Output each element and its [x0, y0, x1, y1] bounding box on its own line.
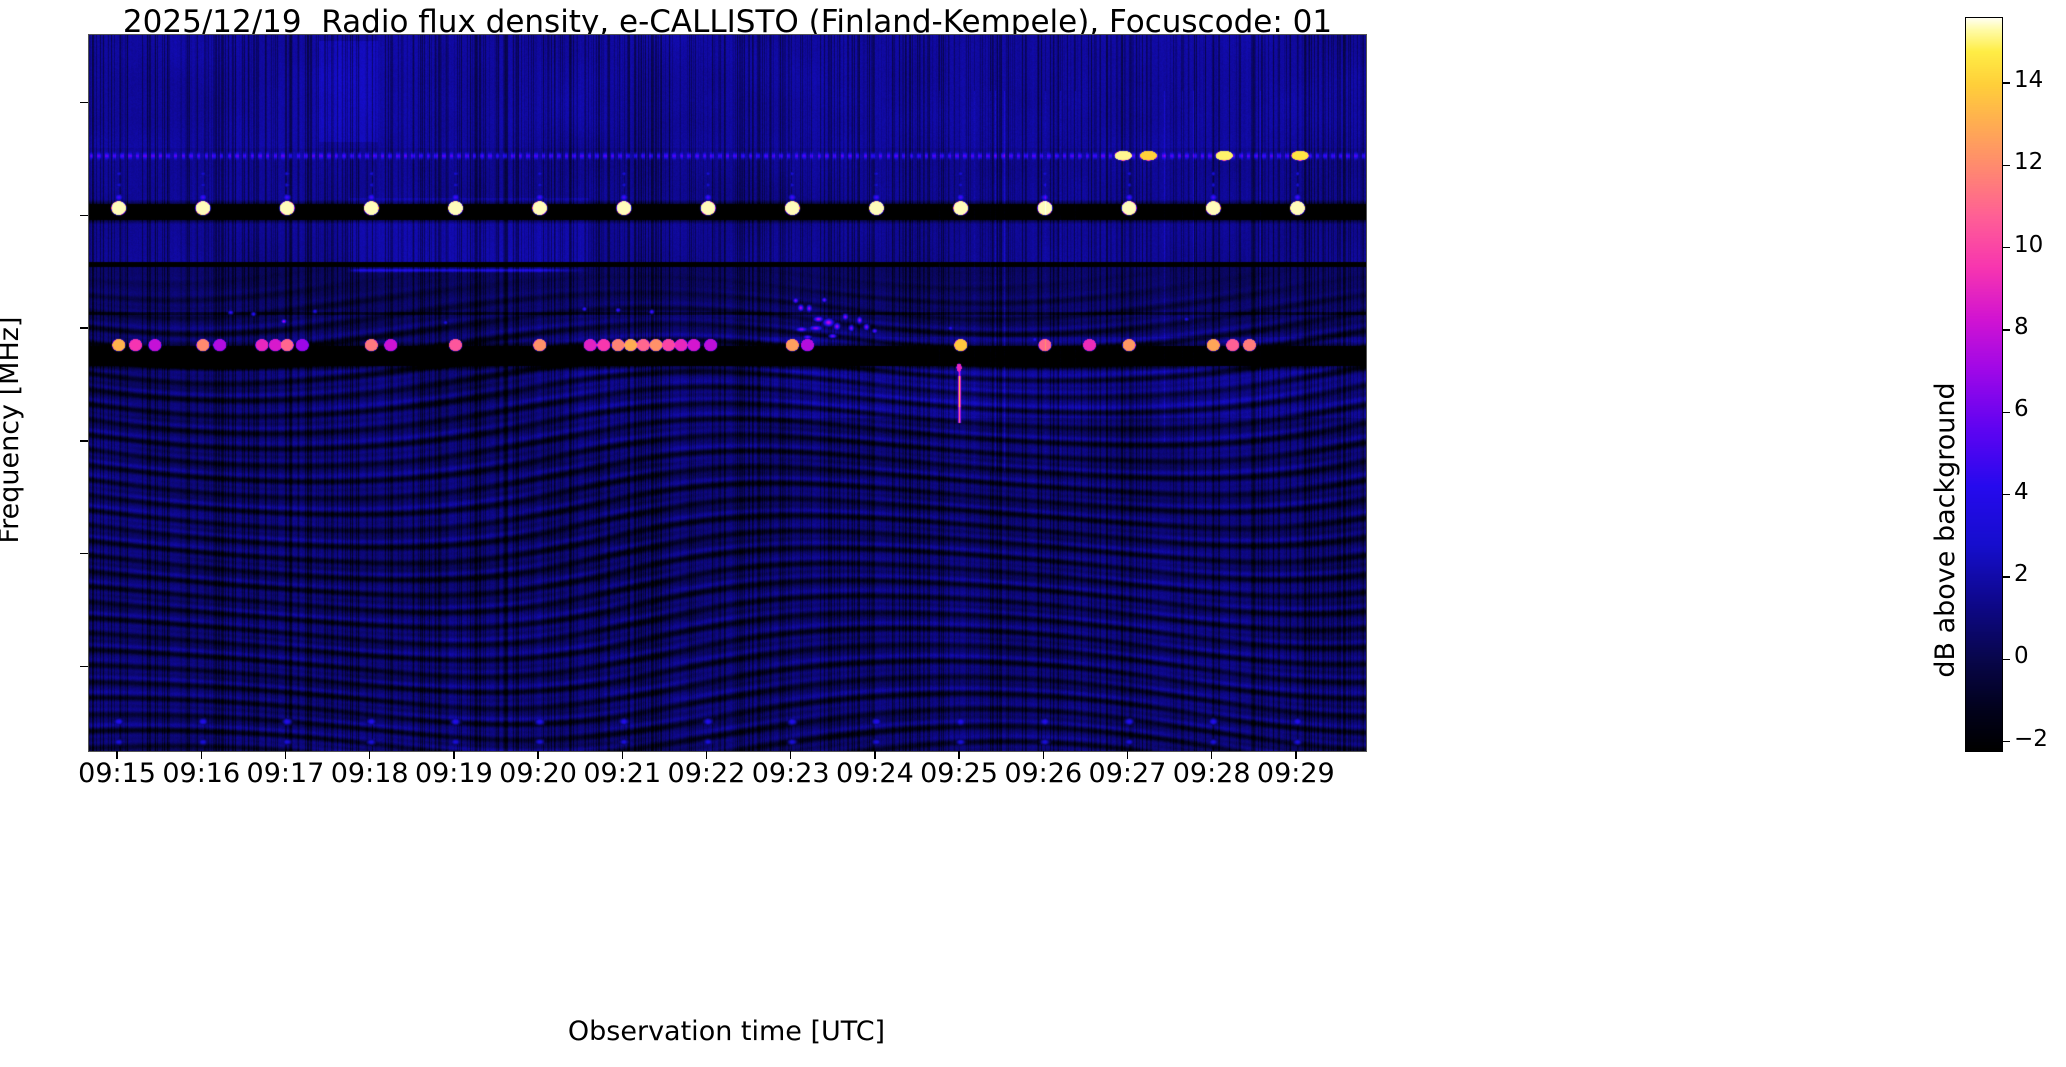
colorbar-tick-label: 4	[2014, 479, 2029, 505]
colorbar-tick-mark	[2003, 329, 2010, 330]
colorbar-tick-mark	[2003, 741, 2010, 742]
colorbar-tick-label: 2	[2014, 561, 2029, 587]
y-tick-mark	[80, 102, 88, 103]
y-tick-mark	[80, 553, 88, 554]
x-tick-label: 09:25	[920, 758, 998, 789]
spectrogram-figure: 2025/12/19 Radio flux density, e-CALLIST…	[0, 0, 2066, 1067]
colorbar-tick-label: 0	[2014, 643, 2029, 669]
x-tick-label: 09:23	[752, 758, 830, 789]
spectrogram-image	[89, 35, 1366, 751]
colorbar-tick-label: −2	[2014, 726, 2048, 752]
colorbar-tick-mark	[2003, 494, 2010, 495]
x-axis-label: Observation time [UTC]	[88, 1016, 1365, 1047]
colorbar-tick-mark	[2003, 82, 2010, 83]
y-tick-mark	[80, 215, 88, 216]
colorbar-tick-label: 6	[2014, 396, 2029, 422]
x-tick-label: 09:24	[836, 758, 914, 789]
colorbar-tick-label: 8	[2014, 314, 2029, 340]
colorbar-tick-mark	[2003, 659, 2010, 660]
x-tick-label: 09:27	[1089, 758, 1167, 789]
spectrogram-plot-area[interactable]	[88, 34, 1367, 752]
colorbar-tick-mark	[2003, 247, 2010, 248]
x-tick-label: 09:22	[668, 758, 746, 789]
x-tick-label: 09:26	[1004, 758, 1082, 789]
x-tick-label: 09:29	[1257, 758, 1335, 789]
colorbar-tick-label: 14	[2014, 67, 2043, 93]
x-tick-label: 09:16	[162, 758, 240, 789]
y-tick-mark	[80, 440, 88, 441]
colorbar-tick-mark	[2003, 165, 2010, 166]
x-tick-label: 09:19	[415, 758, 493, 789]
colorbar-tick-label: 10	[2014, 232, 2043, 258]
y-tick-mark	[80, 666, 88, 667]
x-tick-label: 09:28	[1173, 758, 1251, 789]
colorbar-tick-mark	[2003, 576, 2010, 577]
colorbar-tick-mark	[2003, 412, 2010, 413]
colorbar-gradient	[1966, 18, 2002, 751]
colorbar-tick-label: 12	[2014, 149, 2043, 175]
x-tick-label: 09:20	[499, 758, 577, 789]
colorbar-label: dB above background	[1930, 320, 1961, 740]
y-tick-mark	[80, 327, 88, 328]
x-tick-label: 09:15	[78, 758, 156, 789]
colorbar[interactable]	[1965, 17, 2003, 752]
x-tick-label: 09:18	[331, 758, 409, 789]
x-tick-label: 09:21	[583, 758, 661, 789]
x-tick-label: 09:17	[247, 758, 325, 789]
y-axis-label: Frequency [MHz]	[0, 300, 25, 560]
